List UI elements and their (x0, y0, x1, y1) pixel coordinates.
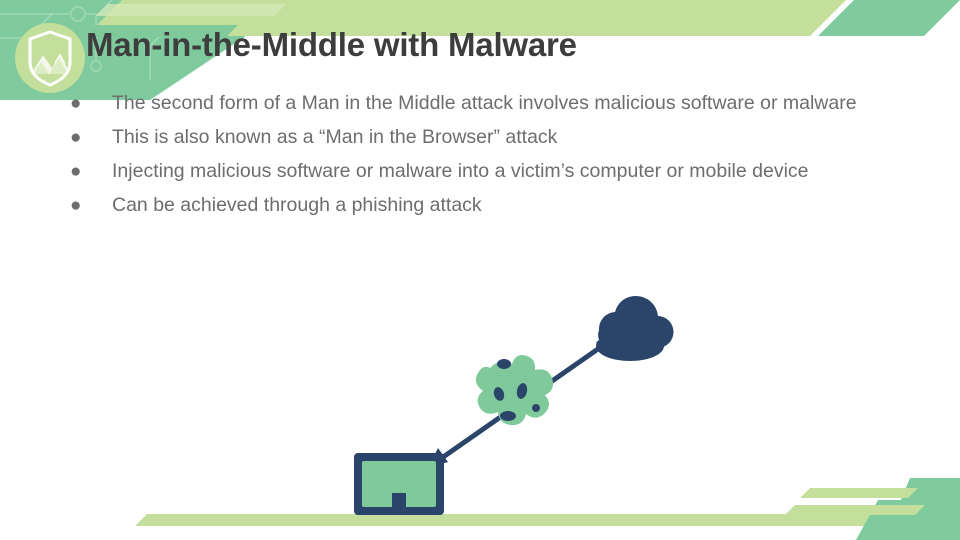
bullet-marker-icon: ● (62, 121, 112, 154)
list-item: ● The second form of a Man in the Middle… (62, 87, 892, 120)
bullet-marker-icon: ● (62, 87, 112, 120)
attack-diagram (340, 290, 680, 515)
bottom-right-sliver-lower (785, 505, 925, 515)
bullet-text: This is also known as a “Man in the Brow… (112, 121, 872, 154)
bullet-marker-icon: ● (62, 155, 112, 188)
top-band-highlight (96, 4, 286, 16)
bullet-text: The second form of a Man in the Middle a… (112, 87, 872, 120)
shield-mountain-logo-icon (14, 22, 86, 94)
slide: Man-in-the-Middle with Malware ● The sec… (0, 0, 960, 540)
slide-title: Man-in-the-Middle with Malware (86, 26, 577, 64)
top-right-teal-parallelogram (818, 0, 960, 36)
malware-blob-icon (476, 355, 553, 425)
bottom-right-teal-block-lower (856, 500, 960, 540)
cloud-icon (596, 296, 674, 361)
bottom-light-green-band (135, 514, 905, 526)
list-item: ● This is also known as a “Man in the Br… (62, 121, 892, 154)
bullet-list: ● The second form of a Man in the Middle… (62, 87, 892, 223)
bullet-text: Can be achieved through a phishing attac… (112, 189, 872, 222)
bottom-right-sliver-upper (800, 488, 918, 498)
computer-monitor-icon (354, 453, 444, 515)
bullet-text: Injecting malicious software or malware … (112, 155, 872, 188)
list-item: ● Injecting malicious software or malwar… (62, 155, 892, 188)
list-item: ● Can be achieved through a phishing att… (62, 189, 892, 222)
bullet-marker-icon: ● (62, 189, 112, 222)
bottom-right-teal-block (884, 478, 960, 540)
